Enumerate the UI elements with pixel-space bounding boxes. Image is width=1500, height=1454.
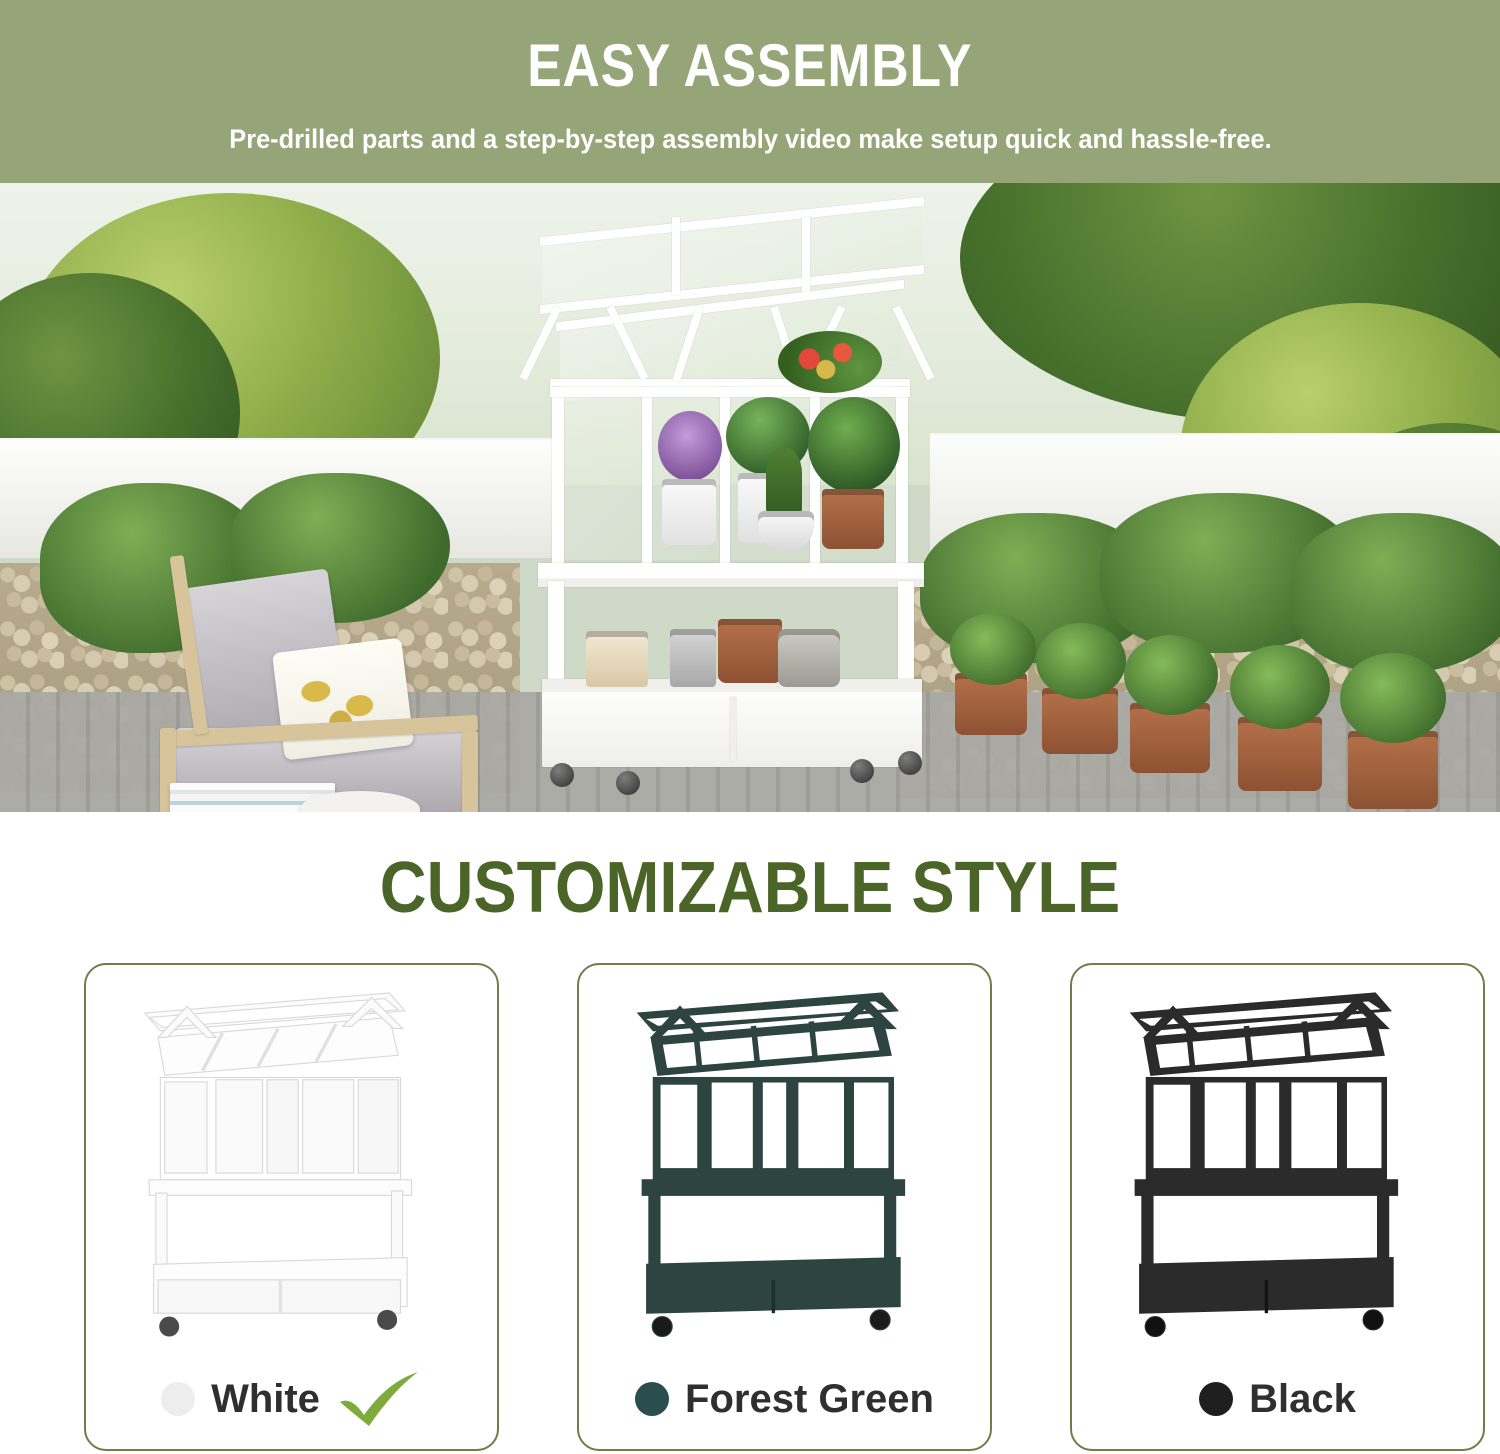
roof-frame-bar xyxy=(672,217,680,296)
middle-shelf-edge xyxy=(538,579,924,587)
color-swatch-black xyxy=(1199,1382,1233,1416)
product-thumbnail-black xyxy=(1072,973,1483,1351)
roof-frame-bar xyxy=(802,217,810,296)
flowering-plant xyxy=(778,331,882,393)
caster-wheel xyxy=(550,763,574,787)
shrub xyxy=(1290,513,1500,673)
gable-rafter xyxy=(519,305,561,380)
check-brush-icon xyxy=(336,1369,422,1429)
product-thumbnail-white xyxy=(86,973,497,1351)
option-label-row-forest-green: Forest Green xyxy=(579,1349,990,1449)
caster-wheel xyxy=(616,771,640,795)
product-thumbnail-forest-green xyxy=(579,973,990,1351)
banner-title: EASY ASSEMBLY xyxy=(527,36,972,96)
cabinet-door-stile xyxy=(642,387,652,567)
option-label-row-black: Black xyxy=(1072,1349,1483,1449)
color-option-card-forest-green[interactable]: Forest Green xyxy=(577,963,992,1451)
product-feature-page: EASY ASSEMBLY Pre-drilled parts and a st… xyxy=(0,0,1500,1454)
color-swatch-white xyxy=(161,1382,195,1416)
hero-lifestyle-photo xyxy=(0,183,1500,812)
potted-plant xyxy=(1340,653,1446,743)
plant-pot xyxy=(662,479,716,545)
option-label-white: White xyxy=(211,1377,320,1422)
caster-wheel xyxy=(898,751,922,775)
option-label-row-white: White xyxy=(86,1349,497,1449)
potted-plant xyxy=(1036,623,1126,699)
customizable-style-title: CUSTOMIZABLE STYLE xyxy=(75,852,1425,924)
color-option-card-white[interactable]: White xyxy=(84,963,499,1451)
color-swatch-forest-green xyxy=(635,1382,669,1416)
potted-plant xyxy=(1230,645,1330,729)
option-label-forest-green: Forest Green xyxy=(685,1377,934,1422)
potted-plant xyxy=(950,613,1036,685)
caster-wheel xyxy=(850,759,874,783)
potted-plant xyxy=(808,397,900,493)
terracotta-pot xyxy=(822,489,884,549)
terracotta-pot xyxy=(718,619,782,683)
decorative-pillow xyxy=(272,637,414,760)
banner-subtitle: Pre-drilled parts and a step-by-step ass… xyxy=(229,126,1271,153)
potted-plant xyxy=(1124,635,1218,715)
color-option-cards: White xyxy=(0,963,1500,1451)
planter-box-panel-divider xyxy=(730,697,736,761)
greenhouse-cart-hero xyxy=(520,211,940,801)
cabinet-post xyxy=(552,387,564,567)
watering-can xyxy=(670,629,716,687)
soil-bag xyxy=(586,631,648,687)
easy-assembly-banner: EASY ASSEMBLY Pre-drilled parts and a st… xyxy=(0,0,1500,183)
option-label-black: Black xyxy=(1249,1377,1356,1422)
chair-frame xyxy=(462,731,478,812)
stone-pot xyxy=(778,629,840,687)
potted-plant xyxy=(658,411,722,481)
cabinet-door-stile xyxy=(720,387,730,567)
cabinet-post xyxy=(896,387,908,567)
color-option-card-black[interactable]: Black xyxy=(1070,963,1485,1451)
